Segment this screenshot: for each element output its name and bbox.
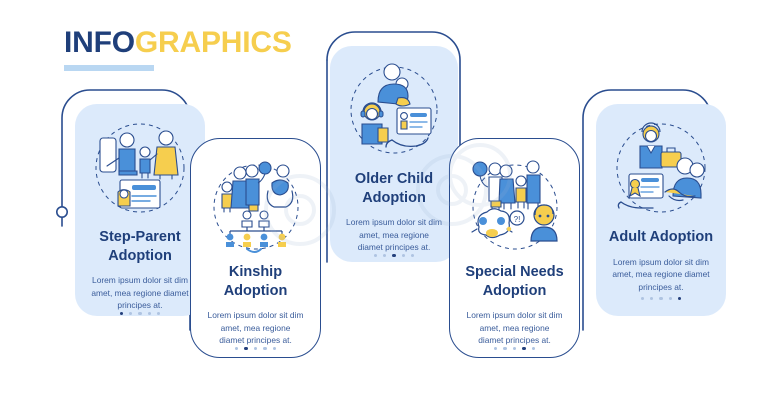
kinship-family-tree-icon <box>202 153 310 257</box>
step-card-5[interactable]: Adult Adoption Lorem ipsum dolor sit dim… <box>596 104 726 316</box>
progress-dot[interactable] <box>402 254 405 257</box>
progress-dot[interactable] <box>411 254 414 257</box>
progress-dot[interactable] <box>659 297 662 300</box>
step-card-3-progress-dots[interactable] <box>374 254 415 257</box>
step-card-5-progress-dots[interactable] <box>641 297 682 300</box>
step-card-1-title: Step-Parent Adoption <box>75 228 205 265</box>
progress-dot[interactable] <box>650 297 653 300</box>
progress-dot[interactable] <box>503 347 506 350</box>
progress-dot[interactable] <box>494 347 497 350</box>
title-secondary: GRAPHICS <box>135 26 292 59</box>
title-primary: INFO <box>64 26 135 59</box>
step-card-2[interactable]: Kinship Adoption Lorem ipsum dolor sit d… <box>190 138 321 358</box>
progress-dot[interactable] <box>392 254 395 257</box>
progress-dot[interactable] <box>383 254 386 257</box>
progress-dot[interactable] <box>120 312 123 315</box>
progress-dot[interactable] <box>157 312 160 315</box>
adult-adoption-handshake-icon <box>607 118 715 222</box>
progress-dot[interactable] <box>138 312 141 315</box>
infographic-canvas: INFOGRAPHICS <box>0 0 768 404</box>
progress-dot[interactable] <box>532 347 535 350</box>
progress-dot[interactable] <box>254 347 257 350</box>
step-card-1[interactable]: Step-Parent Adoption Lorem ipsum dolor s… <box>75 104 205 316</box>
step-card-4-progress-dots[interactable] <box>494 347 535 350</box>
progress-dot[interactable] <box>678 297 681 300</box>
step-card-4[interactable]: ?! Special Needs Adoption Lorem ipsum do… <box>449 138 580 358</box>
progress-dot[interactable] <box>263 347 266 350</box>
progress-dot[interactable] <box>513 347 516 350</box>
step-card-4-body: Lorem ipsum dolor sit dim amet, mea regi… <box>450 309 579 347</box>
step-parent-family-icon <box>86 118 194 222</box>
title-underline-rule <box>64 65 154 71</box>
progress-dot[interactable] <box>148 312 151 315</box>
step-card-3-body: Lorem ipsum dolor sit dim amet, mea regi… <box>330 216 458 254</box>
older-child-care-icon <box>340 60 448 164</box>
step-card-2-title: Kinship Adoption <box>191 263 320 300</box>
progress-dot[interactable] <box>235 347 238 350</box>
step-card-5-body: Lorem ipsum dolor sit dim amet, mea regi… <box>596 256 726 294</box>
step-card-3-title: Older Child Adoption <box>330 170 458 207</box>
step-card-3[interactable]: Older Child Adoption Lorem ipsum dolor s… <box>330 46 458 262</box>
timeline-start-node <box>57 207 67 217</box>
step-card-2-progress-dots[interactable] <box>235 347 276 350</box>
step-card-1-body: Lorem ipsum dolor sit dim amet, mea regi… <box>75 274 205 312</box>
special-needs-family-icon: ?! <box>461 153 569 257</box>
step-card-5-title: Adult Adoption <box>603 228 719 247</box>
progress-dot[interactable] <box>374 254 377 257</box>
progress-dot[interactable] <box>522 347 525 350</box>
progress-dot[interactable] <box>641 297 644 300</box>
step-card-1-progress-dots[interactable] <box>120 312 161 315</box>
step-card-4-title: Special Needs Adoption <box>450 263 579 300</box>
progress-dot[interactable] <box>273 347 276 350</box>
step-card-2-body: Lorem ipsum dolor sit dim amet, mea regi… <box>191 309 320 347</box>
progress-dot[interactable] <box>669 297 672 300</box>
progress-dot[interactable] <box>129 312 132 315</box>
progress-dot[interactable] <box>244 347 247 350</box>
svg-text:?!: ?! <box>513 215 520 224</box>
